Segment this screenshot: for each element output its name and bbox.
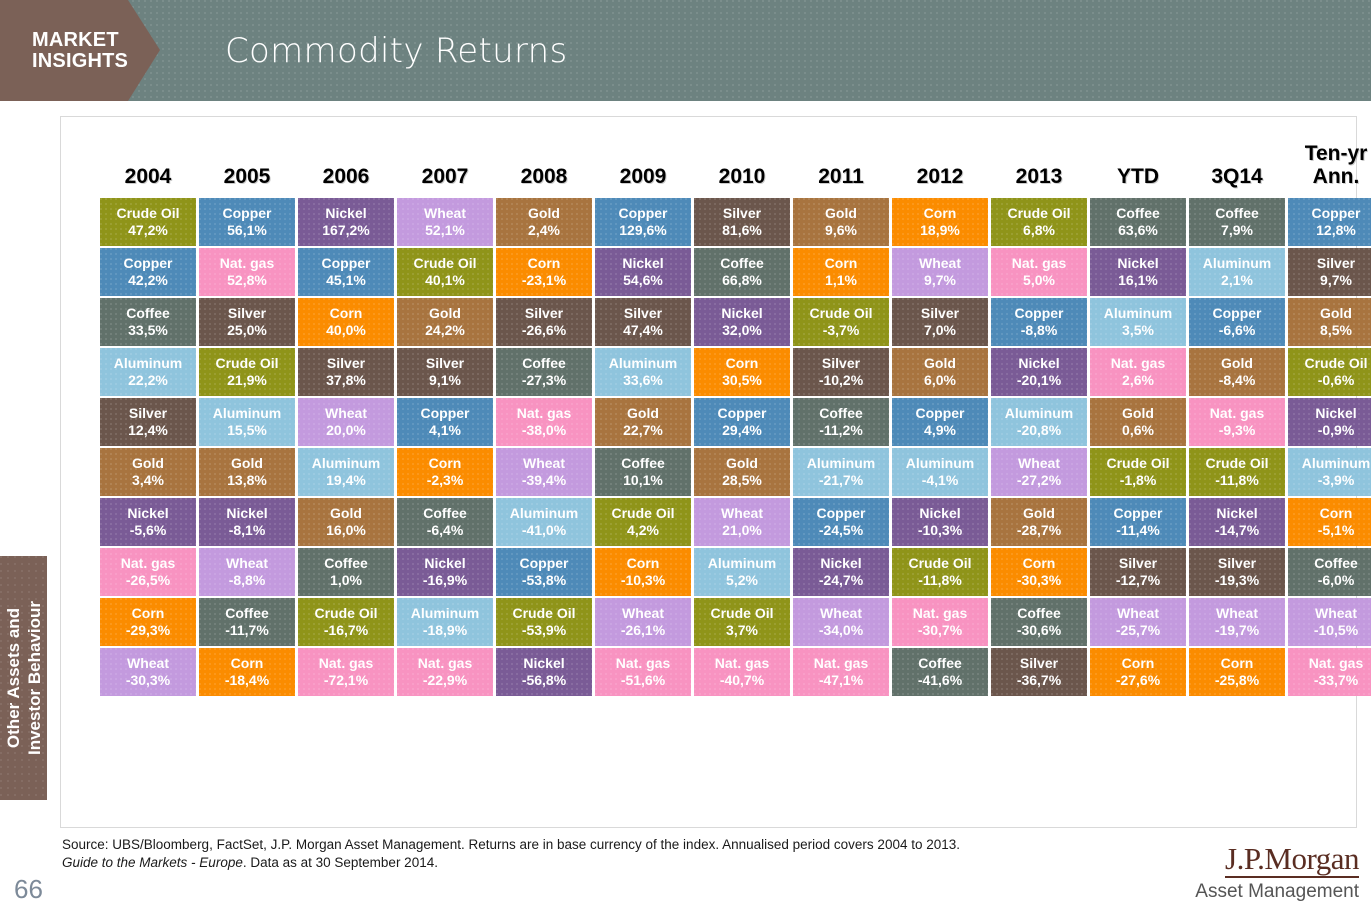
commodity-return-value: 40,0% [326,322,366,339]
commodity-return-value: -20,8% [1017,422,1061,439]
commodity-name: Wheat [325,405,367,422]
returns-cell: Gold16,0% [298,498,394,546]
returns-cell: Gold-8,4% [1189,348,1285,396]
commodity-name: Gold [330,505,362,522]
commodity-name: Nickel [919,505,960,522]
commodity-return-value: -30,7% [918,622,962,639]
commodity-name: Gold [627,405,659,422]
cell-copper: Copper4,9% [892,398,988,446]
commodity-return-value: -16,7% [324,622,368,639]
cell-silver: Silver9,7% [1288,248,1371,296]
commodity-return-value: 9,7% [1320,272,1352,289]
commodity-name: Crude Oil [413,255,476,272]
section-tab-other-assets[interactable]: Other Assets and Investor Behaviour [0,556,47,800]
cell-nickel: Nickel16,1% [1090,248,1186,296]
commodity-return-value: -9,3% [1219,422,1256,439]
returns-cell: Nickel-24,7% [793,548,889,596]
logo-subtitle: Asset Management [1144,880,1359,904]
commodity-name: Nickel [127,505,168,522]
returns-cell: Nat. gas2,6% [1090,348,1186,396]
commodity-return-value: 2,4% [528,222,560,239]
commodity-return-value: 5,2% [726,572,758,589]
commodity-return-value: 4,9% [924,422,956,439]
commodity-name: Coffee [225,605,269,622]
commodity-return-value: 7,0% [924,322,956,339]
commodity-return-value: 1,1% [825,272,857,289]
commodity-return-value: 37,8% [326,372,366,389]
commodity-name: Corn [726,355,759,372]
cell-coffee: Coffee66,8% [694,248,790,296]
column-header-2007: 2007 [397,142,493,196]
commodity-name: Gold [726,455,758,472]
returns-cell: Wheat-30,3% [100,648,196,696]
returns-cell: Aluminum-3,9% [1288,448,1371,496]
commodity-name: Crude Oil [809,305,872,322]
commodity-name: Nickel [424,555,465,572]
cell-wheat: Wheat52,1% [397,198,493,246]
returns-cell: Nickel-10,3% [892,498,988,546]
returns-cell: Corn-29,3% [100,598,196,646]
commodity-name: Coffee [918,655,962,672]
cell-wheat: Wheat-39,4% [496,448,592,496]
cell-wheat: Wheat-8,8% [199,548,295,596]
cell-nat-gas: Nat. gas-40,7% [694,648,790,696]
returns-cell: Crude Oil4,2% [595,498,691,546]
commodity-name: Copper [520,555,569,572]
returns-cell: Nat. gas-51,6% [595,648,691,696]
commodity-return-value: -3,9% [1318,472,1355,489]
commodity-name: Corn [1221,655,1254,672]
cell-coffee: Coffee-27,3% [496,348,592,396]
returns-cell: Corn-18,4% [199,648,295,696]
commodity-name: Crude Oil [215,355,278,372]
commodity-return-value: 24,2% [425,322,465,339]
returns-cell: Gold-28,7% [991,498,1087,546]
cell-nickel: Nickel-16,9% [397,548,493,596]
returns-cell: Corn18,9% [892,198,988,246]
commodity-name: Coffee [1116,205,1160,222]
cell-coffee: Coffee-30,6% [991,598,1087,646]
returns-cell: Coffee-41,6% [892,648,988,696]
commodity-name: Nat. gas [1111,355,1165,372]
cell-wheat: Wheat9,7% [892,248,988,296]
commodity-name: Copper [817,505,866,522]
cell-gold: Gold2,4% [496,198,592,246]
returns-cell: Corn1,1% [793,248,889,296]
cell-aluminum: Aluminum19,4% [298,448,394,496]
commodity-return-value: 25,0% [227,322,267,339]
commodity-name: Nat. gas [121,555,175,572]
column-header-ytd: YTD [1090,142,1186,196]
cell-copper: Copper129,6% [595,198,691,246]
commodity-name: Corn [429,455,462,472]
commodity-return-value: 45,1% [326,272,366,289]
cell-nickel: Nickel-14,7% [1189,498,1285,546]
cell-wheat: Wheat-27,2% [991,448,1087,496]
commodity-return-value: -41,6% [918,672,962,689]
returns-cell: Nickel-14,7% [1189,498,1285,546]
commodity-return-value: -12,7% [1116,572,1160,589]
returns-cell: Nickel-5,6% [100,498,196,546]
cell-nat-gas: Nat. gas-26,5% [100,548,196,596]
cell-gold: Gold8,5% [1288,298,1371,346]
commodity-name: Corn [528,255,561,272]
commodity-name: Silver [1317,255,1355,272]
returns-cell: Copper4,1% [397,398,493,446]
cell-copper: Copper-11,4% [1090,498,1186,546]
returns-cell: Gold9,6% [793,198,889,246]
returns-cell: Wheat21,0% [694,498,790,546]
cell-nickel: Nickel-20,1% [991,348,1087,396]
cell-crude-oil: Crude Oil40,1% [397,248,493,296]
commodity-name: Gold [825,205,857,222]
returns-cell: Copper45,1% [298,248,394,296]
returns-cell: Coffee-6,4% [397,498,493,546]
returns-cell: Coffee-30,6% [991,598,1087,646]
cell-gold: Gold22,7% [595,398,691,446]
commodity-name: Crude Oil [314,605,377,622]
commodity-name: Aluminum [1203,255,1271,272]
commodity-return-value: 47,4% [623,322,663,339]
commodity-return-value: -26,1% [621,622,665,639]
returns-cell: Crude Oil21,9% [199,348,295,396]
commodity-return-value: 10,1% [623,472,663,489]
returns-cell: Nat. gas-40,7% [694,648,790,696]
cell-copper: Copper-24,5% [793,498,889,546]
commodity-return-value: -6,4% [427,522,464,539]
commodity-name: Corn [231,655,264,672]
cell-copper: Copper56,1% [199,198,295,246]
cell-aluminum: Aluminum33,6% [595,348,691,396]
commodity-name: Crude Oil [710,605,773,622]
commodity-name: Nickel [226,505,267,522]
commodity-return-value: -1,8% [1120,472,1157,489]
returns-cell: Corn-23,1% [496,248,592,296]
cell-gold: Gold0,6% [1090,398,1186,446]
cell-nat-gas: Nat. gas-38,0% [496,398,592,446]
commodity-name: Gold [231,455,263,472]
cell-gold: Gold6,0% [892,348,988,396]
cell-silver: Silver-19,3% [1189,548,1285,596]
footnote-line-2: Guide to the Markets - Europe. Data as a… [62,854,1062,872]
commodity-name: Crude Oil [1007,205,1070,222]
cell-copper: Copper12,8% [1288,198,1371,246]
commodity-name: Wheat [1018,455,1060,472]
cell-wheat: Wheat21,0% [694,498,790,546]
cell-gold: Gold-28,7% [991,498,1087,546]
commodity-name: Corn [627,555,660,572]
commodity-name: Gold [132,455,164,472]
commodity-name: Nickel [523,655,564,672]
cell-crude-oil: Crude Oil21,9% [199,348,295,396]
commodity-return-value: -51,6% [621,672,665,689]
commodity-name: Aluminum [609,355,677,372]
cell-coffee: Coffee-11,2% [793,398,889,446]
column-header-2011: 2011 [793,142,889,196]
returns-cell: Nickel32,0% [694,298,790,346]
returns-cell: Gold13,8% [199,448,295,496]
commodity-return-value: -18,4% [225,672,269,689]
cell-copper: Copper-53,8% [496,548,592,596]
table-row: Coffee33,5%Silver25,0%Corn40,0%Gold24,2%… [100,298,1371,346]
returns-cell: Copper12,8% [1288,198,1371,246]
commodity-name: Coffee [126,305,170,322]
cell-aluminum: Aluminum-4,1% [892,448,988,496]
commodity-return-value: 7,9% [1221,222,1253,239]
cell-wheat: Wheat-34,0% [793,598,889,646]
commodity-return-value: -10,3% [621,572,665,589]
commodity-return-value: -6,0% [1318,572,1355,589]
returns-cell: Aluminum-4,1% [892,448,988,496]
returns-cell: Gold6,0% [892,348,988,396]
returns-cell: Crude Oil-0,6% [1288,348,1371,396]
commodity-return-value: 56,1% [227,222,267,239]
commodity-return-value: -28,7% [1017,522,1061,539]
commodity-name: Nickel [622,255,663,272]
cell-corn: Corn18,9% [892,198,988,246]
commodity-return-value: -0,9% [1318,422,1355,439]
commodity-return-value: 6,8% [1023,222,1055,239]
cell-crude-oil: Crude Oil-3,7% [793,298,889,346]
commodity-return-value: -27,6% [1116,672,1160,689]
commodity-return-value: -8,8% [229,572,266,589]
commodity-name: Coffee [324,555,368,572]
returns-cell: Nickel-56,8% [496,648,592,696]
commodity-name: Aluminum [708,555,776,572]
cell-coffee: Coffee10,1% [595,448,691,496]
logo-wordmark: J.P.Morgan [1225,842,1359,878]
commodity-return-value: -11,8% [918,572,962,589]
returns-cell: Nickel-0,9% [1288,398,1371,446]
cell-crude-oil: Crude Oil4,2% [595,498,691,546]
commodity-name: Corn [825,255,858,272]
page-number: 66 [14,874,43,905]
cell-crude-oil: Crude Oil6,8% [991,198,1087,246]
commodity-name: Nat. gas [319,655,373,672]
commodity-name: Silver [525,305,563,322]
returns-cell: Wheat20,0% [298,398,394,446]
jpmorgan-logo: J.P.Morgan Asset Management [1144,842,1359,904]
commodity-return-value: -11,7% [225,622,269,639]
commodity-return-value: -53,9% [522,622,566,639]
commodity-return-value: 42,2% [128,272,168,289]
commodity-name: Coffee [720,255,764,272]
cell-nickel: Nickel-0,9% [1288,398,1371,446]
commodity-name: Aluminum [411,605,479,622]
commodity-name: Corn [330,305,363,322]
returns-cell: Wheat-25,7% [1090,598,1186,646]
cell-crude-oil: Crude Oil-11,8% [1189,448,1285,496]
commodity-name: Aluminum [114,355,182,372]
cell-gold: Gold24,2% [397,298,493,346]
section-tab-label: Other Assets and Investor Behaviour [3,601,45,755]
commodity-return-value: -26,6% [522,322,566,339]
commodity-return-value: -8,1% [229,522,266,539]
cell-gold: Gold16,0% [298,498,394,546]
commodity-return-value: -24,7% [819,572,863,589]
cell-nat-gas: Nat. gas-51,6% [595,648,691,696]
table-row: Aluminum22,2%Crude Oil21,9%Silver37,8%Si… [100,348,1371,396]
commodity-return-value: -25,7% [1116,622,1160,639]
commodity-return-value: 8,5% [1320,322,1352,339]
commodity-return-value: -30,6% [1017,622,1061,639]
returns-cell: Gold22,7% [595,398,691,446]
commodity-name: Aluminum [213,405,281,422]
commodity-name: Silver [822,355,860,372]
commodity-return-value: -10,5% [1314,622,1358,639]
commodity-return-value: 32,0% [722,322,762,339]
returns-cell: Silver37,8% [298,348,394,396]
cell-nickel: Nickel54,6% [595,248,691,296]
cell-coffee: Coffee63,6% [1090,198,1186,246]
cell-crude-oil: Crude Oil-53,9% [496,598,592,646]
commodity-name: Gold [1023,505,1055,522]
returns-cell: Silver9,1% [397,348,493,396]
column-header-2004: 2004 [100,142,196,196]
returns-cell: Gold8,5% [1288,298,1371,346]
table-row: Nat. gas-26,5%Wheat-8,8%Coffee1,0%Nickel… [100,548,1371,596]
commodity-return-value: -10,3% [918,522,962,539]
commodity-return-value: -19,3% [1215,572,1259,589]
returns-cell: Crude Oil40,1% [397,248,493,296]
commodity-name: Nickel [1315,405,1356,422]
table-row: Crude Oil47,2%Copper56,1%Nickel167,2%Whe… [100,198,1371,246]
commodity-name: Copper [718,405,767,422]
page-title: Commodity Returns [225,0,568,101]
commodity-name: Coffee [621,455,665,472]
returns-cell: Aluminum22,2% [100,348,196,396]
returns-cell: Corn-30,3% [991,548,1087,596]
returns-cell: Corn40,0% [298,298,394,346]
cell-aluminum: Aluminum2,1% [1189,248,1285,296]
commodity-name: Corn [1320,505,1353,522]
commodity-name: Gold [528,205,560,222]
returns-cell: Nat. gas-38,0% [496,398,592,446]
returns-cell: Crude Oil-16,7% [298,598,394,646]
cell-crude-oil: Crude Oil47,2% [100,198,196,246]
returns-cell: Wheat-10,5% [1288,598,1371,646]
commodity-return-value: -23,1% [522,272,566,289]
returns-cell: Copper-6,6% [1189,298,1285,346]
cell-corn: Corn1,1% [793,248,889,296]
commodity-name: Copper [619,205,668,222]
commodity-name: Coffee [819,405,863,422]
market-insights-brand-tab: MARKET INSIGHTS [0,0,160,101]
commodity-return-value: -18,9% [423,622,467,639]
returns-cell: Corn-10,3% [595,548,691,596]
commodity-return-value: -27,2% [1017,472,1061,489]
table-row: Nickel-5,6%Nickel-8,1%Gold16,0%Coffee-6,… [100,498,1371,546]
cell-corn: Corn-10,3% [595,548,691,596]
commodity-return-value: -27,3% [522,372,566,389]
cell-nickel: Nickel32,0% [694,298,790,346]
commodity-name: Coffee [1215,205,1259,222]
returns-cell: Wheat9,7% [892,248,988,296]
commodity-name: Gold [1122,405,1154,422]
cell-copper: Copper-8,8% [991,298,1087,346]
commodity-name: Wheat [226,555,268,572]
cell-aluminum: Aluminum-21,7% [793,448,889,496]
commodity-return-value: 16,1% [1118,272,1158,289]
returns-cell: Coffee-27,3% [496,348,592,396]
commodity-return-value: -11,8% [1215,472,1259,489]
returns-cell: Nickel16,1% [1090,248,1186,296]
cell-gold: Gold28,5% [694,448,790,496]
returns-cell: Aluminum3,5% [1090,298,1186,346]
commodity-return-value: 40,1% [425,272,465,289]
commodity-return-value: -2,3% [427,472,464,489]
commodity-return-value: 20,0% [326,422,366,439]
commodity-name: Nat. gas [1309,655,1363,672]
cell-nat-gas: Nat. gas-30,7% [892,598,988,646]
commodity-name: Aluminum [510,505,578,522]
commodity-name: Silver [426,355,464,372]
cell-aluminum: Aluminum-20,8% [991,398,1087,446]
cell-corn: Corn-5,1% [1288,498,1371,546]
commodity-name: Silver [1020,655,1058,672]
commodity-return-value: 4,1% [429,422,461,439]
commodity-name: Silver [723,205,761,222]
commodity-name: Wheat [127,655,169,672]
returns-cell: Crude Oil-11,8% [892,548,988,596]
commodity-name: Crude Oil [611,505,674,522]
commodity-return-value: -3,7% [823,322,860,339]
commodity-name: Aluminum [807,455,875,472]
commodity-return-value: -19,7% [1215,622,1259,639]
returns-cell: Coffee66,8% [694,248,790,296]
cell-corn: Corn-18,4% [199,648,295,696]
returns-cell: Coffee7,9% [1189,198,1285,246]
commodity-return-value: 66,8% [722,272,762,289]
commodity-return-value: 21,0% [722,522,762,539]
cell-wheat: Wheat-19,7% [1189,598,1285,646]
commodity-return-value: -30,3% [1017,572,1061,589]
returns-cell: Nickel167,2% [298,198,394,246]
returns-cell: Copper-11,4% [1090,498,1186,546]
returns-cell: Aluminum-18,9% [397,598,493,646]
commodity-return-value: 9,7% [924,272,956,289]
cell-corn: Corn-2,3% [397,448,493,496]
commodity-return-value: 21,9% [227,372,267,389]
commodity-return-value: 129,6% [619,222,666,239]
column-header-2008: 2008 [496,142,592,196]
commodity-return-value: 33,6% [623,372,663,389]
cell-nat-gas: Nat. gas-22,9% [397,648,493,696]
returns-cell: Copper4,9% [892,398,988,446]
commodity-return-value: -5,1% [1318,522,1355,539]
returns-cell: Copper-53,8% [496,548,592,596]
commodity-return-value: -8,8% [1021,322,1058,339]
commodity-name: Silver [327,355,365,372]
commodity-return-value: -72,1% [324,672,368,689]
commodity-name: Aluminum [1104,305,1172,322]
returns-cell: Silver-12,7% [1090,548,1186,596]
returns-cell: Nat. gas52,8% [199,248,295,296]
returns-cell: Corn30,5% [694,348,790,396]
commodity-return-value: -10,2% [819,372,863,389]
commodity-return-value: -53,8% [522,572,566,589]
commodity-return-value: 30,5% [722,372,762,389]
returns-cell: Wheat-34,0% [793,598,889,646]
commodity-name: Crude Oil [116,205,179,222]
column-header-2012: 2012 [892,142,988,196]
commodity-return-value: 81,6% [722,222,762,239]
cell-corn: Corn-30,3% [991,548,1087,596]
cell-copper: Copper42,2% [100,248,196,296]
commodity-name: Nat. gas [814,655,868,672]
returns-cell: Crude Oil-53,9% [496,598,592,646]
commodity-name: Nat. gas [616,655,670,672]
